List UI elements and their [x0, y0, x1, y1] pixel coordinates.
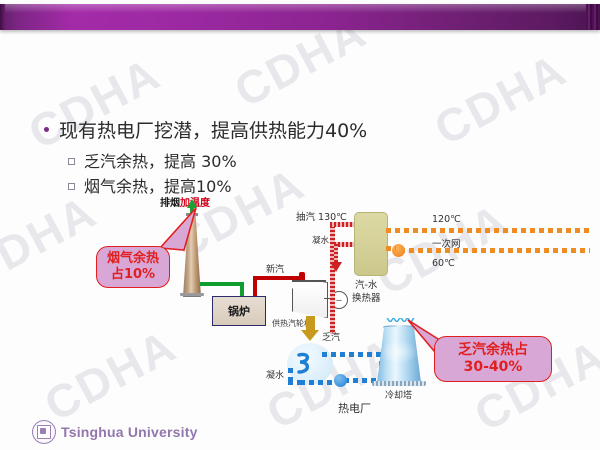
boiler-block: 锅炉 — [212, 296, 266, 326]
heat-exchanger-label-1: 汽-水 — [355, 277, 377, 291]
cooling-water-supply — [322, 352, 384, 357]
network-pump-link — [386, 246, 396, 251]
extraction-label: 抽汽 130℃ — [296, 209, 347, 223]
extraction-pipe-riser — [330, 222, 335, 334]
callout-flue-line-1: 烟气余热 — [107, 251, 159, 267]
plant-label: 热电厂 — [338, 400, 371, 416]
callout-flue-gas-waste-heat: 烟气余热 占10% — [96, 246, 170, 288]
network-supply-pipe — [386, 228, 590, 233]
exhaust-steam-label: 乏汽 — [322, 330, 340, 343]
cooling-water-pump — [334, 374, 347, 387]
callout-exhaust-line-2: 30-40% — [464, 359, 523, 377]
supply-temp-label: 120℃ — [432, 214, 461, 225]
flue-duct-horizontal — [200, 282, 244, 286]
cooling-tower-label: 冷却塔 — [385, 388, 412, 401]
chimney-base — [180, 293, 204, 296]
tsinghua-logo-text: Tsinghua University — [61, 424, 198, 440]
steam-water-heat-exchanger — [354, 212, 388, 276]
heat-exchanger-label-2: 换热器 — [352, 290, 381, 304]
tsinghua-seal-icon — [32, 420, 56, 444]
exhaust-steam-arrow-icon — [301, 330, 319, 341]
cooling-tower-basin — [372, 381, 426, 386]
steam-turbine — [292, 282, 328, 318]
condensate-bottom-label: 凝水 — [266, 368, 284, 381]
condenser-outlet-pipe — [300, 380, 334, 385]
turbine-casing-top — [292, 280, 326, 282]
network-return-pipe — [400, 248, 590, 253]
tsinghua-logo: Tsinghua University — [32, 420, 198, 444]
callout-exhaust-line-1: 乏汽余热占 — [458, 342, 528, 360]
callout-flue-line-2: 占10% — [111, 267, 155, 283]
callout-exhaust-steam-waste-heat: 乏汽余热占 30-40% — [434, 336, 552, 382]
condensate-down-pipe — [334, 244, 338, 264]
slide-canvas: CDHA CDHA CDHA CDHA CDHA CDHA CDHA CDHA … — [0, 0, 600, 450]
condensate-arrow-icon — [330, 262, 342, 272]
cogeneration-plant-diagram: 排烟加温度 锅炉 新汽 ∽ 供热汽轮机 抽汽 130℃ 凝水 — [0, 0, 600, 450]
condensate-return-run — [288, 380, 302, 385]
new-steam-label: 新汽 — [266, 262, 284, 275]
flue-duct-vertical — [240, 282, 244, 296]
network-label: 一次网 — [432, 236, 461, 250]
return-temp-label: 60℃ — [432, 258, 455, 269]
condensate-top-label: 凝水 — [312, 234, 329, 246]
